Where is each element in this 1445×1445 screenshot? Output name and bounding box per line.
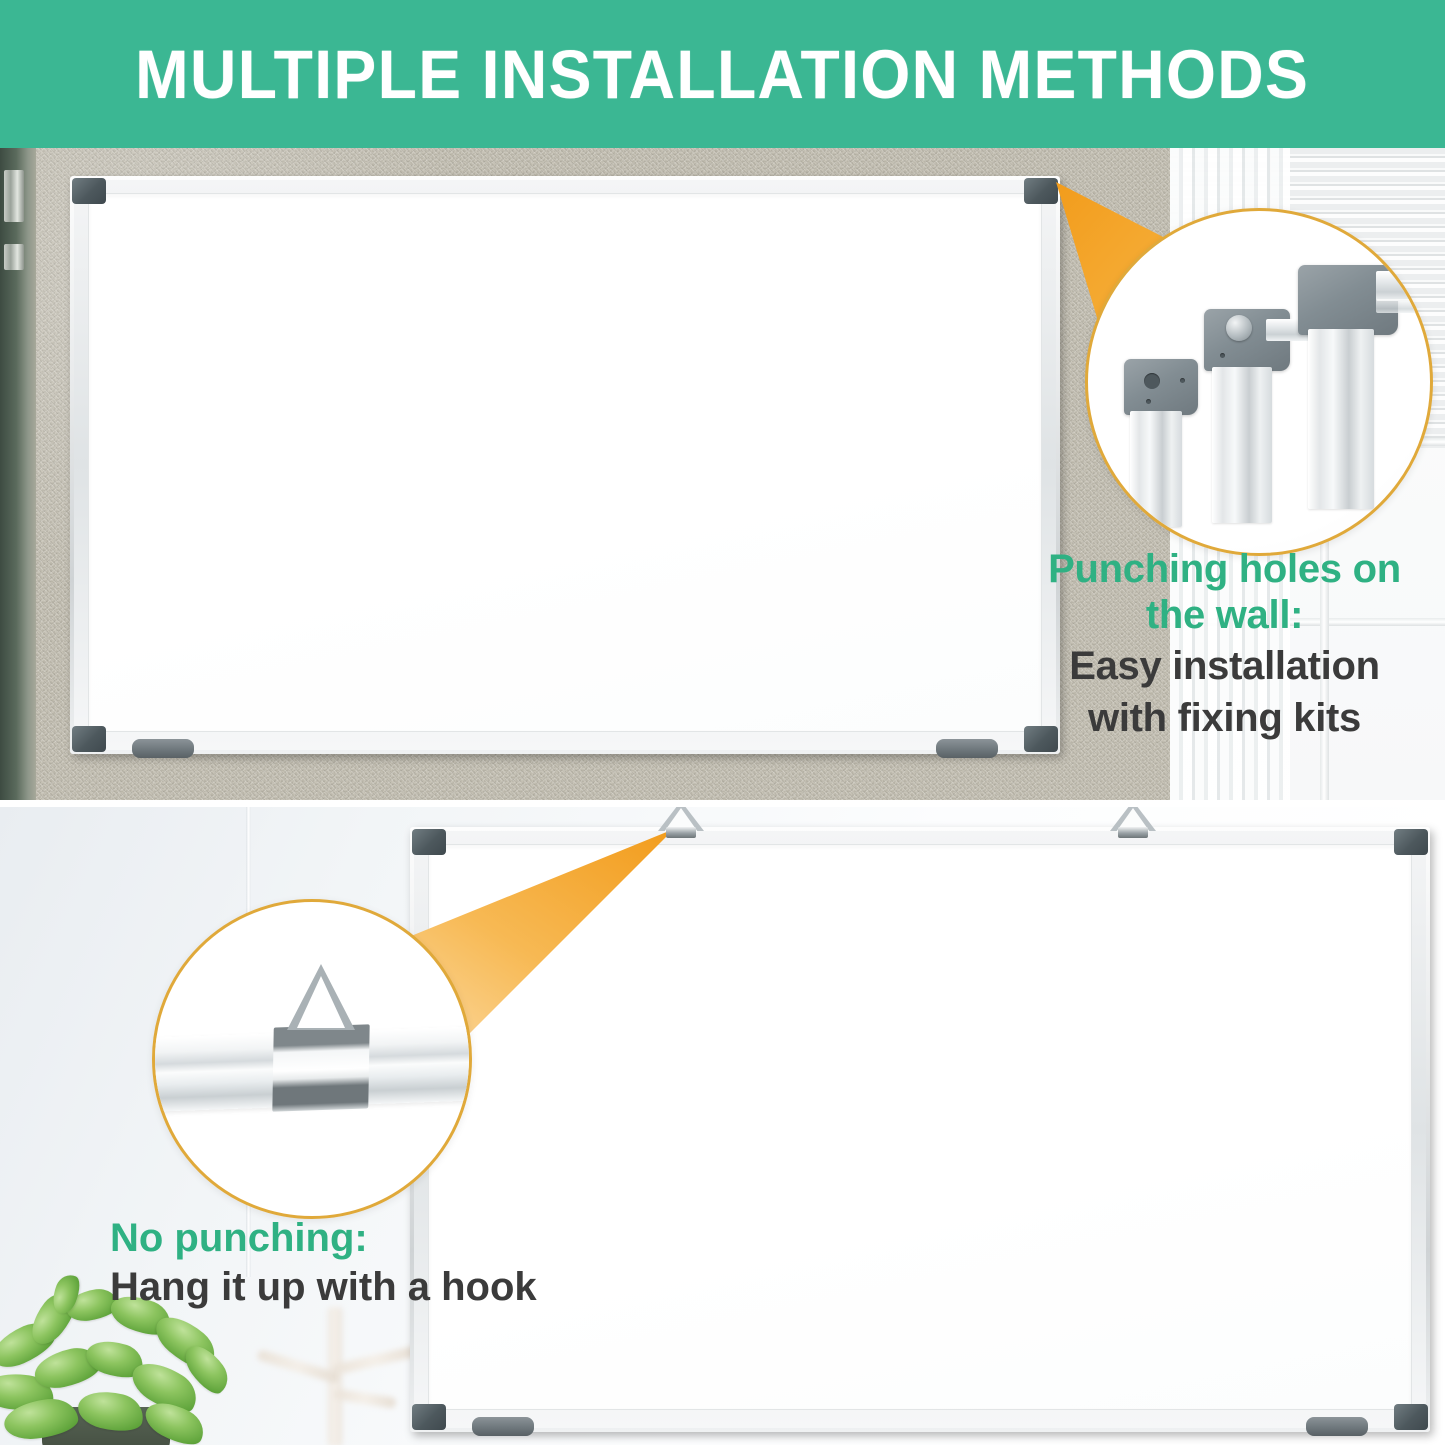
callout-text-punching: Punching holes on the wall: Easy install… bbox=[1012, 546, 1437, 742]
callout-circle-hook bbox=[152, 899, 472, 1219]
callout-circle-brackets bbox=[1085, 208, 1433, 556]
callout-heading: No punching: bbox=[110, 1215, 630, 1261]
callout-body-line2: with fixing kits bbox=[1012, 694, 1437, 742]
triangle-hanger-icon bbox=[658, 807, 704, 833]
panel-no-punching: No punching: Hang it up with a hook bbox=[0, 807, 1445, 1445]
triangle-hanger-icon bbox=[275, 964, 367, 1048]
callout-body: Hang it up with a hook bbox=[110, 1263, 630, 1311]
page-title: MULTIPLE INSTALLATION METHODS bbox=[135, 35, 1309, 114]
whiteboard-writing-surface bbox=[88, 193, 1042, 732]
door-hinge-icon bbox=[4, 170, 24, 222]
header-banner: MULTIPLE INSTALLATION METHODS bbox=[0, 0, 1445, 148]
whiteboard-wall-mounted bbox=[70, 176, 1060, 754]
infographic-page: MULTIPLE INSTALLATION METHODS bbox=[0, 0, 1445, 1445]
pen-tray-clip-icon bbox=[132, 739, 194, 758]
callout-heading-line1: Punching holes on bbox=[1012, 546, 1437, 592]
door-hinge-icon bbox=[4, 244, 24, 270]
panel-divider bbox=[0, 800, 1445, 807]
corner-cap-icon bbox=[72, 178, 106, 204]
pen-tray-clip-icon bbox=[472, 1417, 534, 1436]
callout-body-line1: Easy installation bbox=[1012, 642, 1437, 690]
triangle-hanger-icon bbox=[1110, 807, 1156, 833]
pen-tray-clip-icon bbox=[1306, 1417, 1368, 1436]
pen-tray-clip-icon bbox=[936, 739, 998, 758]
callout-text-no-punching: No punching: Hang it up with a hook bbox=[110, 1215, 630, 1311]
corner-cap-icon bbox=[1394, 829, 1428, 855]
coat-rack-icon bbox=[250, 1307, 420, 1445]
door-jamb bbox=[0, 148, 36, 800]
callout-heading-line2: the wall: bbox=[1012, 592, 1437, 638]
corner-cap-icon bbox=[1394, 1404, 1428, 1430]
corner-cap-icon bbox=[72, 726, 106, 752]
corner-cap-icon bbox=[412, 1404, 446, 1430]
panel-punching-holes: Punching holes on the wall: Easy install… bbox=[0, 148, 1445, 800]
